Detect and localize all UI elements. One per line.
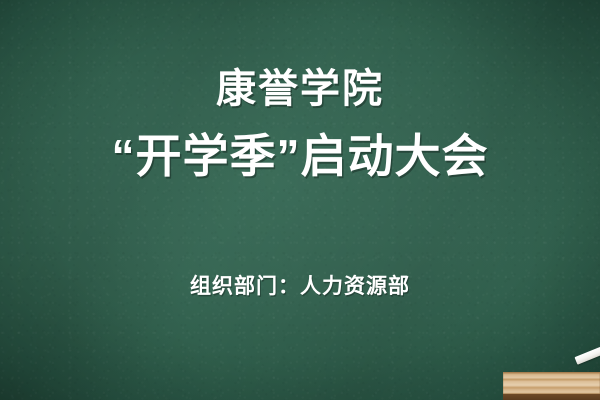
chalk-ledge-icon xyxy=(503,372,600,400)
slide-title-line-1: 康誉学院 xyxy=(0,69,600,109)
slide-content: 康誉学院 “开学季”启动大会 组织部门：人力资源部 xyxy=(0,0,600,400)
slide-subtitle: 组织部门：人力资源部 xyxy=(0,276,600,297)
slide-title-line-2: “开学季”启动大会 xyxy=(0,133,600,179)
chalk-ledge-wood xyxy=(503,372,600,394)
chalk-ledge-shadow xyxy=(503,394,600,400)
presentation-slide: 康誉学院 “开学季”启动大会 组织部门：人力资源部 xyxy=(0,0,600,400)
